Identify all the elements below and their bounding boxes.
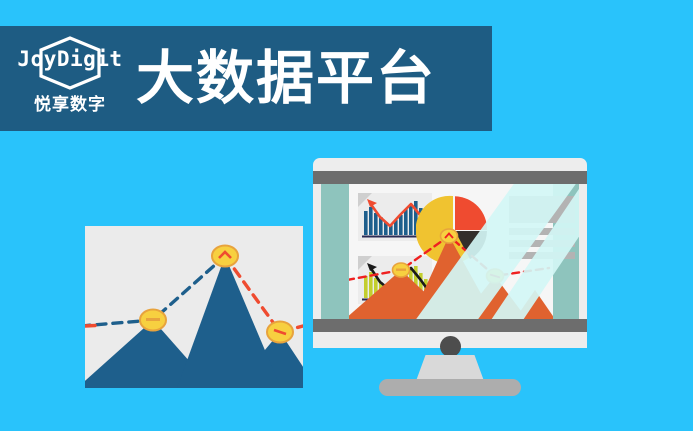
trend-marker-right	[487, 269, 504, 283]
desktop-monitor	[313, 158, 587, 386]
monitor-screen	[321, 184, 579, 319]
page-title: 大数据平台	[136, 50, 436, 108]
mountain-shape-far-right	[515, 290, 553, 319]
left-mountain-chart	[85, 226, 303, 388]
trend-marker-peak	[441, 229, 458, 243]
logo-wordmark: JoyDigit	[16, 47, 124, 71]
monitor-stand	[416, 355, 484, 381]
monitor-bottom-bar	[313, 319, 587, 332]
trend-line-red-start	[85, 326, 95, 327]
placeholder-image	[509, 196, 575, 223]
monitor-bezel	[313, 158, 587, 348]
orange-mountain-chart	[349, 224, 553, 319]
mountain-chart-card	[85, 226, 303, 388]
monitor-top-bar	[313, 171, 587, 184]
trend-marker-left	[393, 263, 410, 277]
brand-logo: JoyDigit 悦享数字	[14, 34, 126, 126]
trend-marker-left	[140, 310, 166, 331]
mountain-shape-main	[411, 236, 495, 319]
trend-marker-peak	[212, 246, 238, 267]
logo-subtext: 悦享数字	[34, 90, 106, 115]
header-banner: JoyDigit 悦享数字 大数据平台	[0, 26, 492, 131]
arrow-head-icon	[367, 199, 377, 207]
illustration-canvas: JoyDigit 悦享数字 大数据平台	[0, 0, 693, 431]
hexagon-icon: JoyDigit	[16, 34, 124, 92]
monitor-base	[379, 379, 521, 396]
mountain-shape-main	[177, 256, 281, 388]
monitor-power-button[interactable]	[440, 336, 461, 357]
screen-left-panel	[321, 184, 349, 319]
trend-marker-right	[267, 322, 293, 343]
